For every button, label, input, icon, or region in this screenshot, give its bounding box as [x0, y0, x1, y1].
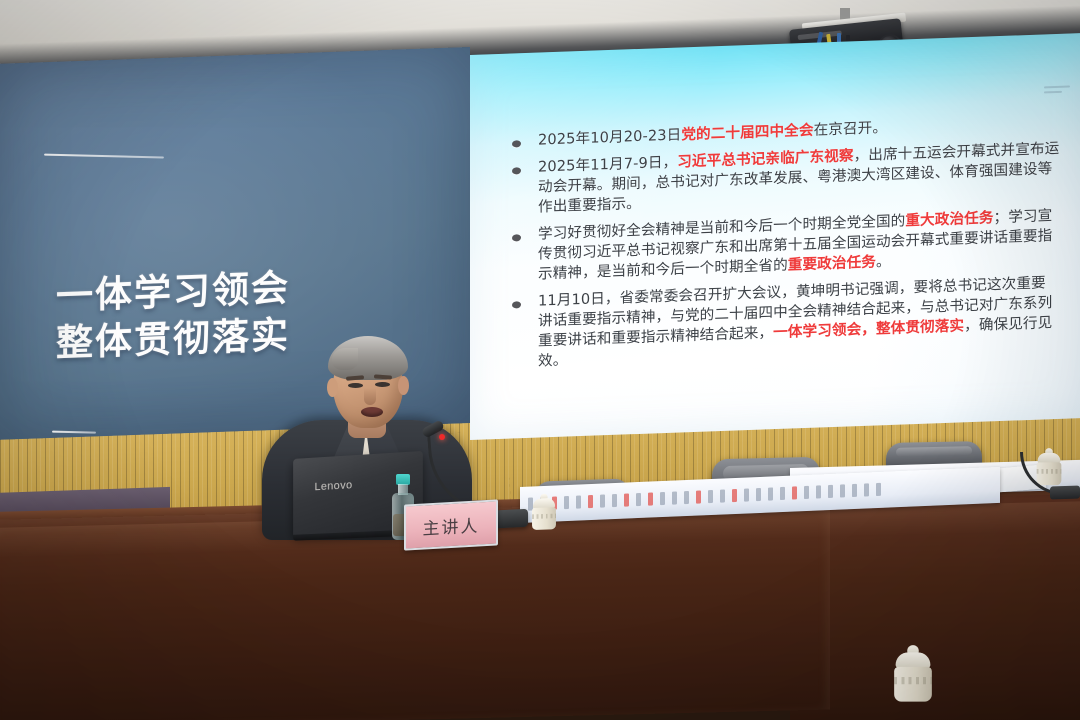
slide-text-plain: 2025年11月7-9日， [538, 154, 677, 176]
slide-text-highlight: 重要政治任务 [788, 253, 876, 273]
slide-text-highlight: 党的二十届四中全会 [681, 122, 813, 144]
teacup [894, 652, 932, 701]
speaker-mouth [361, 407, 383, 417]
speaker-nameplate-text: 主讲人 [423, 511, 480, 539]
speaker-eye-right [375, 382, 390, 387]
slide-bullet-item: 11月10日，省委常委会召开扩大会议，黄坤明书记强调，要将总书记这次重要讲话重要… [512, 273, 1060, 373]
speaker-hair [328, 336, 408, 380]
decor-line-top [44, 154, 164, 159]
slide-text-highlight: 一体学习领会，整体贯彻落实 [773, 317, 964, 341]
slide-text-plain: 2025年10月20-23日 [538, 126, 681, 148]
slide-bullet-text: 11月10日，省委常委会召开扩大会议，黄坤明书记强调，要将总书记这次重要讲话重要… [538, 273, 1060, 372]
microphone-right [1016, 452, 1076, 502]
slide-text-plain: 在京召开。 [814, 119, 887, 139]
speaker-nose [364, 388, 376, 405]
speaker-eye-left [348, 383, 363, 388]
slide-bullet-text: 学习好贯彻好全会精神是当前和今后一个时期全党全国的重大政治任务；学习宣传贯彻习近… [538, 206, 1060, 285]
bullet-dot-icon [512, 301, 521, 308]
slide-bullet-item: 2025年11月7-9日，习近平总书记亲临广东视察，出席十五运会开幕式并宣布运动… [512, 139, 1060, 219]
projection-screen-right: 2025年10月20-23日党的二十届四中全会在京召开。2025年11月7-9日… [470, 33, 1080, 440]
speaker-ear-left [327, 378, 338, 397]
decor-line-bottom [52, 431, 96, 434]
teacup [532, 498, 556, 530]
microphone-led-indicator [439, 434, 445, 440]
screenshot-root: 一体学习领会 整体贯彻落实 2025年10月20-23日党的二十届四中全会在京召… [0, 0, 1080, 720]
slide-text-plain: 。 [876, 253, 891, 271]
speaker-nameplate: 主讲人 [404, 499, 498, 550]
bullet-dot-icon [512, 234, 521, 241]
slide-title-line-1: 一体学习领会 [56, 259, 456, 320]
bullet-dot-icon [512, 167, 521, 174]
slide-bullet-item: 学习好贯彻好全会精神是当前和今后一个时期全党全国的重大政治任务；学习宣传贯彻习近… [512, 206, 1060, 286]
slide-corner-marks-icon [1044, 86, 1070, 97]
slide-text-highlight: 重大政治任务 [905, 209, 993, 229]
bullet-dot-icon [512, 140, 521, 147]
laptop-brand-label: Lenovo [315, 479, 353, 493]
slide-bullet-list: 2025年10月20-23日党的二十届四中全会在京召开。2025年11月7-9日… [512, 112, 1060, 379]
speaker-ear-right [398, 376, 409, 395]
slide-text-highlight: 习近平总书记亲临广东视察 [677, 147, 853, 170]
table-front-right [790, 494, 1080, 720]
slide-bullet-text: 2025年11月7-9日，习近平总书记亲临广东视察，出席十五运会开幕式并宣布运动… [538, 139, 1060, 218]
